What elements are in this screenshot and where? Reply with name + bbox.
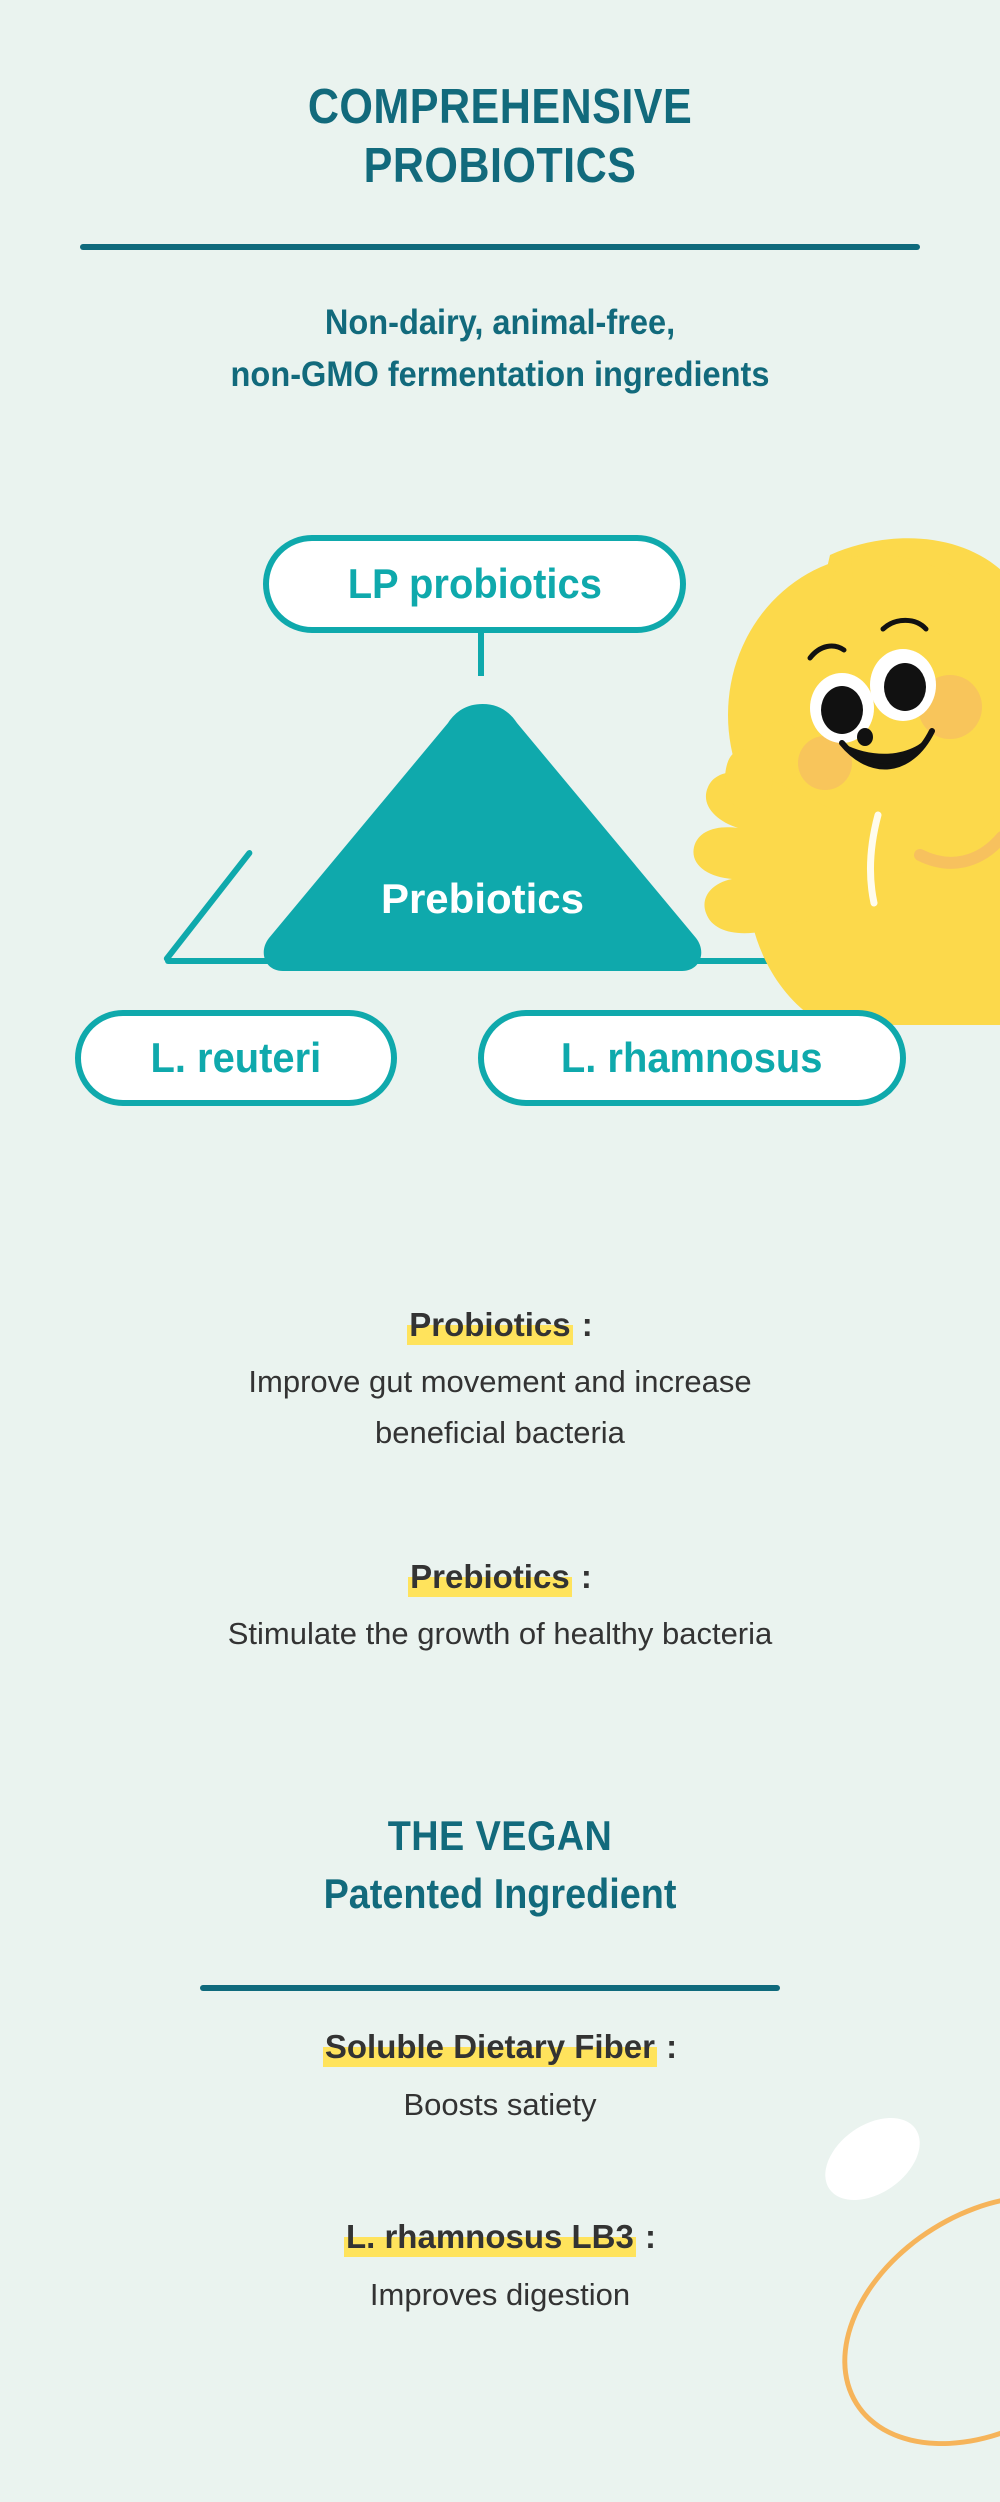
page-title-line1: COMPREHENSIVE [308,80,692,134]
page-title: COMPREHENSIVE PROBIOTICS [60,78,940,196]
vegan-section-divider [200,1985,780,1991]
definition-probiotics-term: Probiotics [407,1303,572,1347]
diagram-node-prebiotics[interactable]: Prebiotics [255,700,710,975]
diagram-node-lp-probiotics[interactable]: LP probiotics [263,535,686,633]
vegan-item-fiber-separator: : [666,2028,677,2065]
vegan-item-fiber-description: Boosts satiety [0,2079,1000,2130]
vegan-section-title-line2: Patented Ingredient [50,1870,950,1918]
page-subtitle-line1: Non-dairy, animal-free, [325,303,675,342]
diagram-node-l-rhamnosus[interactable]: L. rhamnosus [478,1010,906,1106]
vegan-section-title: THE VEGAN Patented Ingredient [50,1812,950,1918]
diagram-node-l-reuteri-label: L. reuteri [151,1034,322,1082]
vegan-item-lb3-description: Improves digestion [0,2269,1000,2320]
diagram-node-prebiotics-label: Prebiotics [255,875,710,923]
definition-probiotics-description-line1: Improve gut movement and increase [248,1364,751,1399]
page-subtitle: Non-dairy, animal-free, non-GMO fermenta… [35,297,965,401]
page-subtitle-line2: non-GMO fermentation ingredients [231,355,770,394]
vegan-section-title-line1: THE VEGAN [50,1812,950,1860]
diagram-node-l-reuteri[interactable]: L. reuteri [75,1010,397,1106]
infographic-page: COMPREHENSIVE PROBIOTICS Non-dairy, anim… [0,0,1000,2502]
header-divider [80,244,920,250]
definition-prebiotics-description-line1: Stimulate the growth of healthy bacteria [228,1616,773,1651]
definition-prebiotics: Prebiotics : Stimulate the growth of hea… [0,1555,1000,1659]
definition-prebiotics-description: Stimulate the growth of healthy bacteria [0,1608,1000,1659]
connector-top-vertical [478,629,484,676]
diagram-node-lp-probiotics-label: LP probiotics [347,560,601,608]
vegan-item-lb3-term: L. rhamnosus LB3 [344,2215,636,2259]
definition-probiotics-separator: : [582,1306,593,1343]
definition-probiotics: Probiotics : Improve gut movement and in… [0,1303,1000,1458]
vegan-item-fiber-term: Soluble Dietary Fiber [323,2025,657,2069]
definition-prebiotics-term: Prebiotics [408,1555,572,1599]
definition-probiotics-term-row: Probiotics : [0,1303,1000,1347]
connector-left-diagonal [163,849,254,963]
definition-probiotics-description: Improve gut movement and increase benefi… [0,1356,1000,1458]
vegan-item-l-rhamnosus-lb3: L. rhamnosus LB3 : Improves digestion [0,2215,1000,2320]
diagram-node-l-rhamnosus-label: L. rhamnosus [561,1034,823,1082]
vegan-item-lb3-separator: : [645,2218,656,2255]
vegan-item-fiber-term-row: Soluble Dietary Fiber : [0,2025,1000,2069]
orange-ellipse-outline-decoration-icon [796,2142,1000,2498]
vegan-item-lb3-term-row: L. rhamnosus LB3 : [0,2215,1000,2259]
vegan-item-soluble-dietary-fiber: Soluble Dietary Fiber : Boosts satiety [0,2025,1000,2130]
definition-prebiotics-separator: : [581,1558,592,1595]
definition-prebiotics-term-row: Prebiotics : [0,1555,1000,1599]
page-title-line2: PROBIOTICS [60,137,940,196]
definition-probiotics-description-line2: beneficial bacteria [375,1415,625,1450]
